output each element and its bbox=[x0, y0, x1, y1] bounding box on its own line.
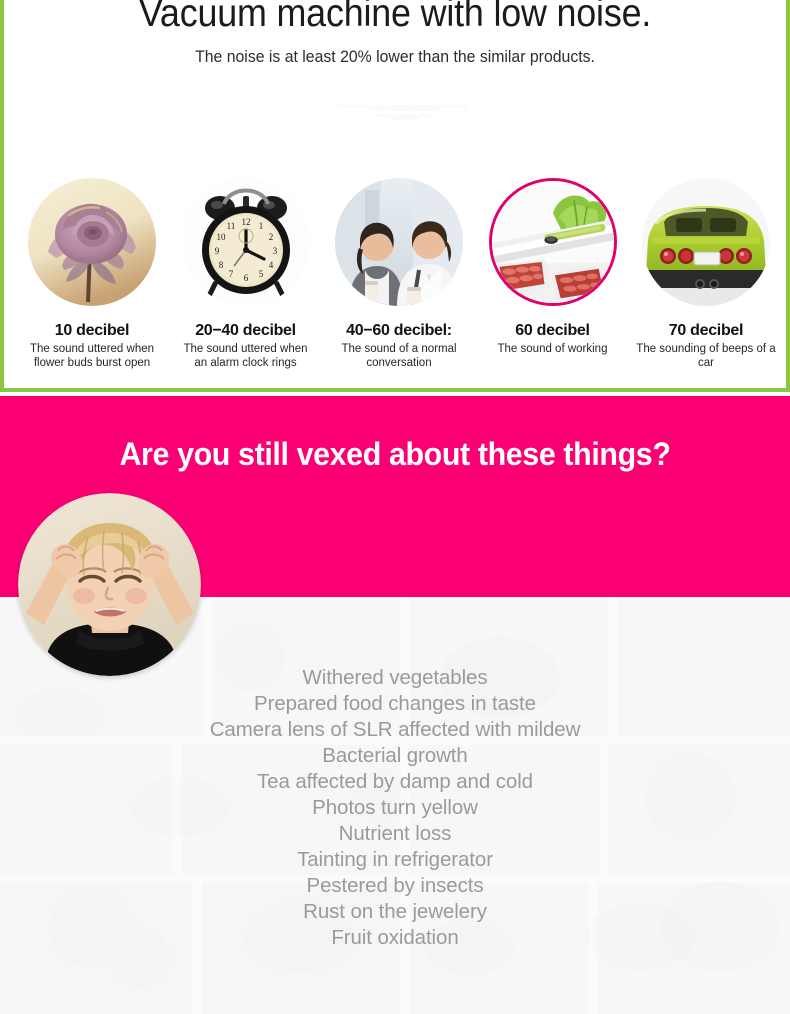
svg-text:7: 7 bbox=[228, 269, 233, 279]
list-item: Tea affected by damp and cold bbox=[0, 769, 790, 795]
two-women-talking-icon bbox=[335, 178, 463, 306]
list-item: Photos turn yellow bbox=[0, 795, 790, 821]
decibel-title: 60 decibel bbox=[483, 322, 623, 340]
list-item: Tainting in refrigerator bbox=[0, 847, 790, 873]
frustrated-child-icon bbox=[18, 493, 201, 676]
decibel-scale-row: 10 decibel The sound uttered when flower… bbox=[8, 178, 790, 370]
watermark-line: the quick brown fox jumps over the lazy … bbox=[259, 108, 549, 112]
svg-text:6: 6 bbox=[243, 273, 248, 283]
page-subtitle: The noise is at least 20% lower than the… bbox=[31, 47, 758, 67]
list-item: Pestered by insects bbox=[0, 873, 790, 899]
svg-text:5: 5 bbox=[258, 269, 263, 279]
list-item: Bacterial growth bbox=[0, 743, 790, 769]
decibel-title: 20−40 decibel bbox=[176, 322, 316, 340]
alarm-clock-icon: 12 1 2 3 4 5 6 7 8 9 10 11 bbox=[182, 178, 310, 306]
watermark-line: the quick brown fox jumps bbox=[259, 117, 549, 121]
decibel-item-20-40: 12 1 2 3 4 5 6 7 8 9 10 11 bbox=[176, 178, 316, 370]
decibel-description: The sound uttered when flower buds burst… bbox=[22, 343, 162, 370]
watermark-line: the quick brown fox jumps over the lazy bbox=[259, 113, 549, 117]
decibel-item-70: 70 decibel The sounding of beeps of a ca… bbox=[636, 178, 776, 370]
page-title: Vacuum machine with low noise. bbox=[35, 0, 754, 33]
svg-text:11: 11 bbox=[226, 221, 235, 231]
svg-text:3: 3 bbox=[272, 246, 277, 256]
faint-watermark-text: the quick brown fox jumps over the lazy … bbox=[259, 104, 549, 138]
dried-rose-icon bbox=[28, 178, 156, 306]
vexed-heading: Are you still vexed about these things? bbox=[20, 396, 771, 473]
svg-text:2: 2 bbox=[268, 232, 273, 242]
svg-text:9: 9 bbox=[214, 246, 219, 256]
decibel-description: The sounding of beeps of a car bbox=[636, 343, 776, 370]
green-car-rear-icon bbox=[642, 178, 770, 306]
decibel-description: The sound of working bbox=[483, 343, 623, 357]
watermark-line: the quick brown fox jumps over the lazy … bbox=[259, 104, 549, 108]
decibel-item-40-60: 40−60 decibel: The sound of a normal con… bbox=[329, 178, 469, 370]
svg-text:12: 12 bbox=[241, 217, 250, 227]
svg-text:1: 1 bbox=[258, 221, 263, 231]
decibel-title: 40−60 decibel: bbox=[329, 322, 469, 340]
decibel-item-10: 10 decibel The sound uttered when flower… bbox=[22, 178, 162, 370]
svg-text:10: 10 bbox=[216, 232, 226, 242]
list-item: Fruit oxidation bbox=[0, 925, 790, 951]
list-item: Nutrient loss bbox=[0, 821, 790, 847]
list-item: Prepared food changes in taste bbox=[0, 691, 790, 717]
decibel-item-60: 60 decibel The sound of working bbox=[483, 178, 623, 370]
vacuum-sealer-product-icon bbox=[489, 178, 617, 306]
decibel-description: The sound uttered when an alarm clock ri… bbox=[176, 343, 316, 370]
list-item: Rust on the jewelery bbox=[0, 899, 790, 925]
decibel-description: The sound of a normal conversation bbox=[329, 343, 469, 370]
low-noise-section: Vacuum machine with low noise. The noise… bbox=[0, 0, 790, 392]
decibel-title: 10 decibel bbox=[22, 322, 162, 340]
list-item: Camera lens of SLR affected with mildew bbox=[0, 717, 790, 743]
svg-text:4: 4 bbox=[268, 260, 273, 270]
decibel-title: 70 decibel bbox=[636, 322, 776, 340]
svg-text:8: 8 bbox=[218, 260, 223, 270]
